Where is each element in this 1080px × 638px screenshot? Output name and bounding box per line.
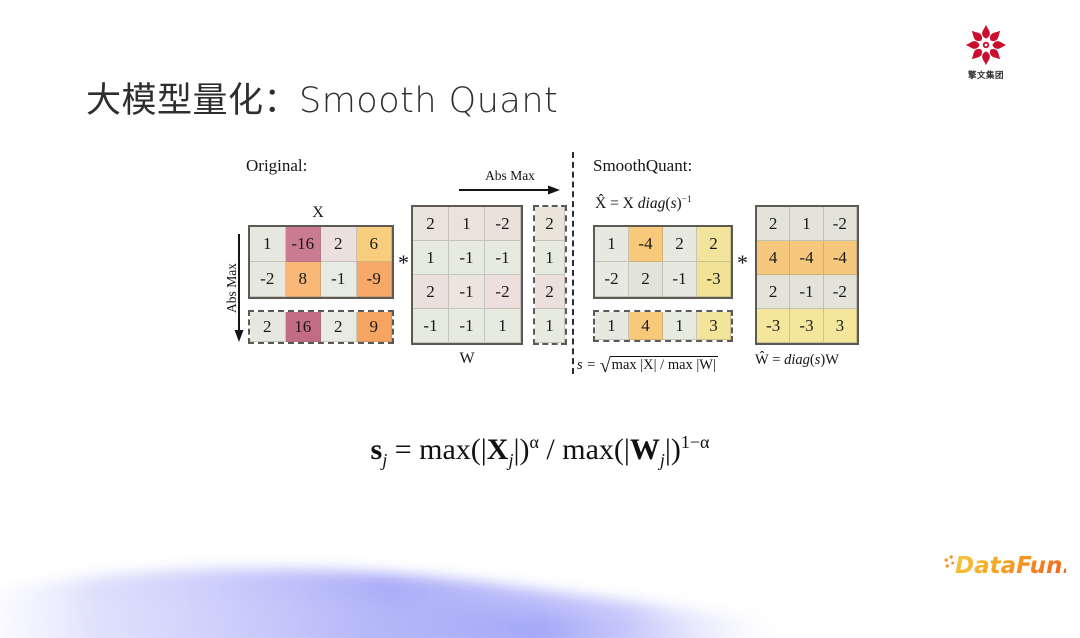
datafun-logo-text: DataFun. [955, 553, 1066, 579]
w-abs-max-cell: 2 [535, 275, 565, 309]
x-hat-matrix-cell: -4 [629, 227, 663, 262]
w-hat-matrix-cell: -3 [757, 309, 790, 343]
eq-x-var: X [487, 433, 509, 466]
w-hat-formula: Ŵ = diag(s)W [755, 352, 839, 369]
x-abs-max-cell: 16 [286, 312, 322, 342]
x-matrix-cell: 8 [286, 262, 322, 297]
w-hat-matrix-cell: 4 [757, 241, 790, 275]
x-abs-max-cell: 9 [357, 312, 393, 342]
w-matrix-cell: -1 [449, 275, 485, 309]
w-matrix-cell: 1 [485, 309, 521, 343]
multiply-symbol-right: * [737, 250, 748, 276]
eq-w-var: W [630, 433, 660, 466]
x-hat-abs-max-cell: 3 [697, 312, 731, 340]
w-hat-matrix-cell: -3 [790, 309, 823, 343]
eq-w-close: |) [665, 433, 681, 466]
abs-max-row-label: Abs Max [458, 168, 562, 184]
w-hat-matrix-cell: -4 [824, 241, 857, 275]
eq-x-close: |) [513, 433, 529, 466]
x-hat-matrix-cell: -1 [663, 262, 697, 297]
w-hat-matrix-cell: -2 [824, 207, 857, 241]
abs-max-row-annotation: Abs Max [458, 168, 562, 197]
x-hat-abs-max-cell: 1 [595, 312, 629, 340]
x-matrix-label: X [300, 204, 336, 222]
w-hat-matrix-cell: -1 [790, 275, 823, 309]
x-abs-max-row: 21629 [248, 310, 394, 344]
x-hat-abs-max-row: 1413 [593, 310, 733, 342]
abs-max-column-annotation: Abs Max [215, 232, 249, 344]
w-hat-matrix-cell: 1 [790, 207, 823, 241]
x-hat-matrix: 1-422-22-1-3 [593, 225, 733, 299]
flower-starburst-icon [963, 22, 1009, 68]
purple-wave-decoration [0, 498, 780, 638]
x-hat-matrix-cell: 2 [697, 227, 731, 262]
w-hat-matrix-cell: 2 [757, 207, 790, 241]
main-equation: sj = max(|Xj|)α / max(|Wj|)1−α [0, 432, 1080, 471]
w-hat-matrix-cell: -2 [824, 275, 857, 309]
x-hat-abs-max-cell: 1 [663, 312, 697, 340]
eq-exponent: 1−α [681, 432, 710, 452]
w-matrix-cell: -2 [485, 207, 521, 241]
x-matrix-cell: -1 [321, 262, 357, 297]
w-matrix-cell: -1 [485, 241, 521, 275]
page-title: 大模型量化：Smooth Quant [86, 72, 558, 123]
w-hat-matrix: 21-24-4-42-1-2-3-33 [755, 205, 859, 345]
x-hat-abs-max-cell: 4 [629, 312, 663, 340]
w-matrix-cell: -1 [449, 309, 485, 343]
w-matrix-cell: -1 [449, 241, 485, 275]
w-matrix-cell: 2 [413, 207, 449, 241]
original-panel-label: Original: [246, 156, 307, 176]
x-abs-max-cell: 2 [250, 312, 286, 342]
eq-slash: / max(| [539, 433, 630, 466]
w-matrix-label: W [449, 350, 485, 368]
smoothquant-figure: Original: X Abs Max 1-1626-28-1-9 21629 … [215, 152, 875, 387]
w-matrix-cell: 2 [413, 275, 449, 309]
s-formula-radicand: max |X| / max |W| [610, 356, 718, 373]
w-matrix: 21-21-1-12-1-2-1-11 [411, 205, 523, 345]
w-matrix-cell: -2 [485, 275, 521, 309]
x-hat-matrix-cell: -2 [595, 262, 629, 297]
s-formula: s = √max |X| / max |W| [577, 352, 718, 375]
multiply-symbol-left: * [398, 250, 409, 276]
s-formula-prefix: s = [577, 357, 600, 373]
x-hat-matrix-cell: -3 [697, 262, 731, 297]
right-arrow-icon [458, 185, 562, 197]
x-hat-matrix-cell: 1 [595, 227, 629, 262]
x-matrix-cell: -16 [286, 227, 322, 262]
w-matrix-cell: 1 [449, 207, 485, 241]
w-matrix-cell: 1 [413, 241, 449, 275]
panel-divider [572, 152, 574, 374]
eq-alpha: α [529, 432, 538, 452]
x-matrix-cell: 2 [321, 227, 357, 262]
x-abs-max-cell: 2 [321, 312, 357, 342]
w-matrix-cell: -1 [413, 309, 449, 343]
datafun-logo: DataFun. [941, 549, 1066, 581]
company-logo: 擎文集团 [940, 22, 1032, 81]
smoothquant-panel-label: SmoothQuant: [593, 156, 692, 176]
company-logo-text: 擎文集团 [940, 69, 1032, 81]
eq-op-1: = max(| [387, 433, 487, 466]
w-abs-max-cell: 1 [535, 309, 565, 343]
x-matrix: 1-1626-28-1-9 [248, 225, 394, 299]
x-hat-formula: X̂ = X diag(s)−1 [595, 195, 692, 213]
x-hat-matrix-cell: 2 [629, 262, 663, 297]
x-matrix-cell: -9 [357, 262, 393, 297]
w-hat-matrix-cell: 2 [757, 275, 790, 309]
w-hat-matrix-cell: 3 [824, 309, 857, 343]
down-arrow-icon [233, 232, 247, 344]
x-hat-matrix-cell: 2 [663, 227, 697, 262]
w-abs-max-column: 2121 [533, 205, 567, 345]
w-hat-matrix-cell: -4 [790, 241, 823, 275]
x-matrix-cell: 1 [250, 227, 286, 262]
w-abs-max-cell: 2 [535, 207, 565, 241]
x-matrix-cell: -2 [250, 262, 286, 297]
eq-lhs-var: s [371, 433, 383, 466]
x-matrix-cell: 6 [357, 227, 393, 262]
w-abs-max-cell: 1 [535, 241, 565, 275]
